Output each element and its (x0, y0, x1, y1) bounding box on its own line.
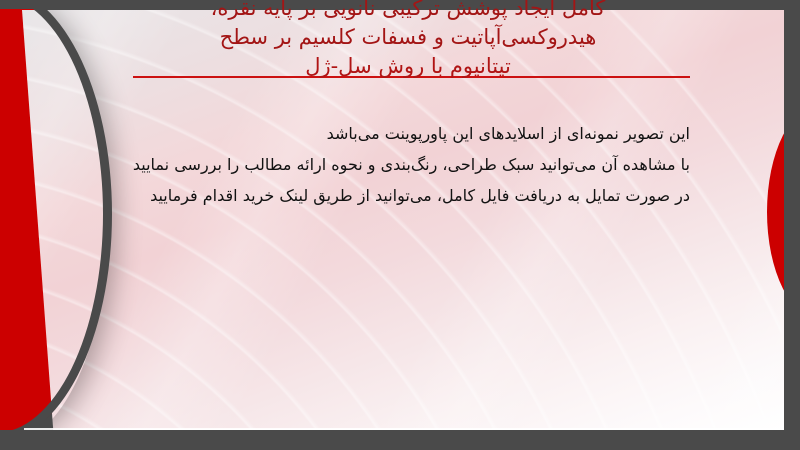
frame-right-band (784, 0, 800, 450)
body-line-3: در صورت تمایل به دریافت فایل کامل، می‌تو… (90, 180, 690, 211)
frame-bottom-hairline (24, 428, 784, 430)
slide-title: کامل ایجاد پوشش ترکیبی نانویی بر پایه نق… (128, 0, 688, 81)
frame-bottom-band (0, 430, 800, 450)
presentation-slide: کامل ایجاد پوشش ترکیبی نانویی بر پایه نق… (0, 0, 800, 450)
title-line-3: تیتانیوم با روش سل-ژل (128, 52, 688, 81)
title-line-1: کامل ایجاد پوشش ترکیبی نانویی بر پایه نق… (128, 0, 688, 23)
slide-body-text: این تصویر نمونه‌ای از اسلایدهای این پاور… (90, 118, 690, 211)
body-line-1: این تصویر نمونه‌ای از اسلایدهای این پاور… (90, 118, 690, 149)
body-line-2: با مشاهده آن می‌توانید سبک طراحی، رنگ‌بن… (90, 149, 690, 180)
title-line-2: هیدروکسی‌آپاتیت و فسفات کلسیم بر سطح (128, 23, 688, 52)
